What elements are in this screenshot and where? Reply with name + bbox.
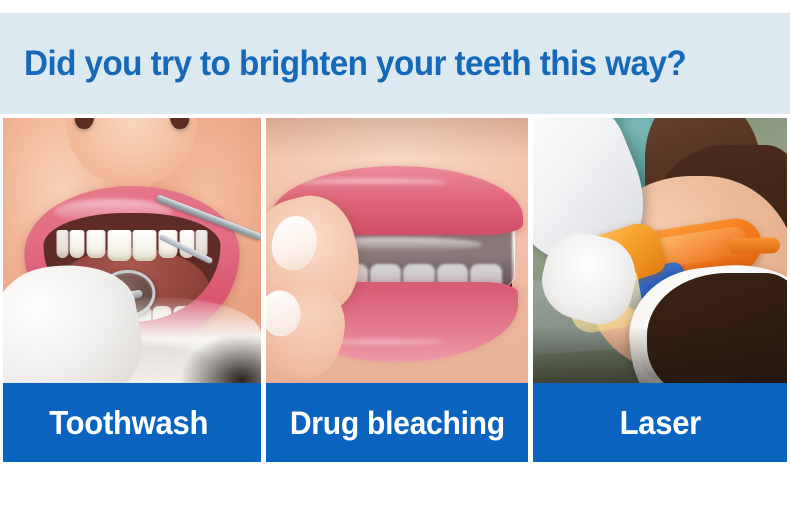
label-bar-laser: Laser (533, 383, 787, 462)
whitening-tray-photo (266, 118, 528, 383)
fingernail (267, 211, 321, 273)
card-laser[interactable]: Laser (533, 118, 787, 462)
laser-whitening-photo (533, 118, 787, 383)
label-bar-drug-bleaching: Drug bleaching (266, 383, 528, 462)
card-label: Drug bleaching (290, 407, 505, 439)
label-bar-toothwash: Toothwash (3, 383, 261, 462)
top-shadow (266, 118, 528, 158)
goggles-strap (727, 237, 779, 254)
dental-exam-photo (3, 118, 261, 383)
card-toothwash[interactable]: Toothwash (3, 118, 261, 462)
nostril-right (73, 118, 95, 130)
nostril-left (168, 118, 190, 130)
upper-lip-highlight (301, 179, 447, 185)
card-label: Laser (619, 406, 700, 439)
bottom-shadow (533, 327, 787, 383)
card-drug-bleaching[interactable]: Drug bleaching (266, 118, 528, 462)
header-band: Did you try to brighten your teeth this … (0, 13, 790, 114)
thumbnail (266, 288, 303, 338)
card-row: Toothwash (3, 118, 787, 462)
page-title: Did you try to brighten your teeth this … (24, 46, 686, 81)
infographic-poster: Did you try to brighten your teeth this … (0, 0, 790, 518)
background-shadow (181, 335, 261, 383)
upper-teeth (56, 230, 208, 258)
card-label: Toothwash (50, 406, 215, 439)
